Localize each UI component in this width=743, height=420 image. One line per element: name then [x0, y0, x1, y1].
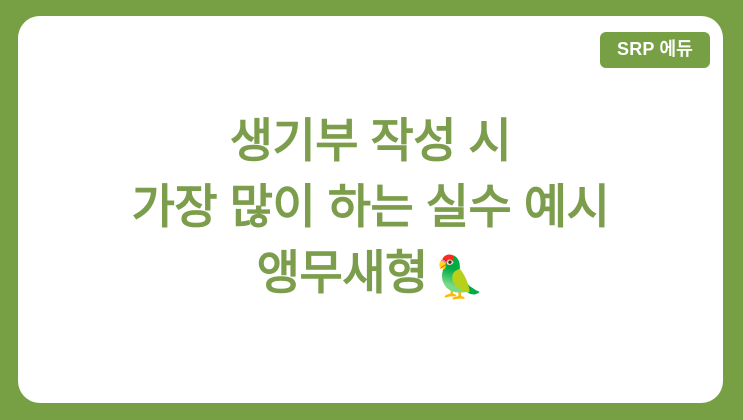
brand-badge-label: SRP 에듀 — [617, 39, 693, 60]
parrot-emoji: 🦜 — [434, 253, 485, 301]
headline-line-1: 생기부 작성 시 — [28, 108, 713, 174]
brand-badge[interactable]: SRP 에듀 — [600, 32, 710, 68]
headline-line-3-text: 앵무새형 — [257, 246, 428, 299]
thumbnail-canvas: SRP 에듀 생기부 작성 시 가장 많이 하는 실수 예시 앵무새형🦜 — [0, 0, 743, 420]
headline-line-3: 앵무새형🦜 — [28, 240, 713, 310]
headline-block: 생기부 작성 시 가장 많이 하는 실수 예시 앵무새형🦜 — [18, 108, 723, 310]
content-card: SRP 에듀 생기부 작성 시 가장 많이 하는 실수 예시 앵무새형🦜 — [18, 16, 723, 403]
headline-line-2: 가장 많이 하는 실수 예시 — [28, 174, 713, 240]
